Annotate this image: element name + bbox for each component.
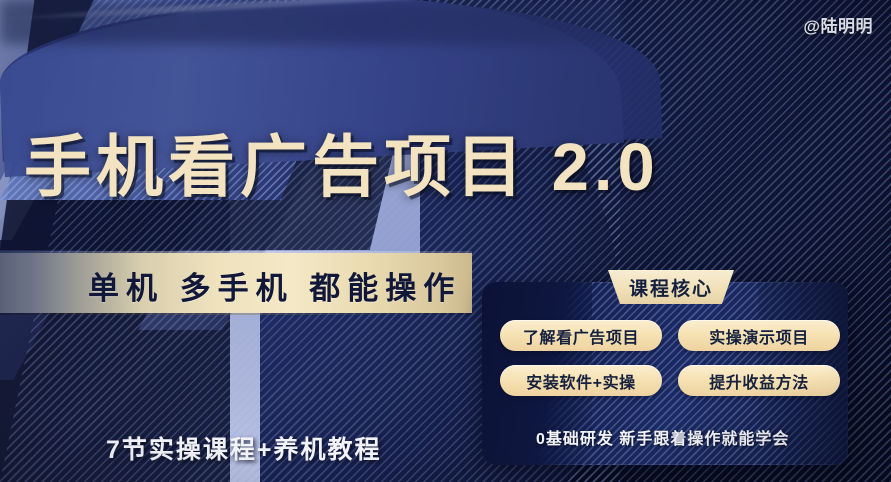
course-core-item-1[interactable]: 实操演示项目 <box>678 320 840 351</box>
page-subtitle: 单机 多手机 都能操作 <box>88 263 461 308</box>
background-foot-shadow <box>0 0 620 44</box>
subtitle-band-top-edge <box>0 251 472 253</box>
course-promo-banner: @陆明明 手机看广告项目 2.0 单机 多手机 都能操作 课程核心 了解看广告项… <box>0 0 891 482</box>
course-core-item-2[interactable]: 安装软件+实操 <box>500 365 662 396</box>
page-title: 手机看广告项目 2.0 <box>24 134 660 201</box>
course-core-item-0[interactable]: 了解看广告项目 <box>500 320 662 351</box>
course-core-badge: 课程核心 <box>604 270 738 304</box>
course-core-note: 0基础研发 新手跟着操作就能学会 <box>536 425 789 449</box>
course-core-item-label: 安装软件+实操 <box>526 369 636 393</box>
course-core-item-3[interactable]: 提升收益方法 <box>678 365 840 396</box>
course-core-item-label: 实操演示项目 <box>709 324 809 348</box>
course-core-item-label: 提升收益方法 <box>709 369 809 393</box>
course-core-item-list: 了解看广告项目 实操演示项目 安装软件+实操 提升收益方法 <box>500 320 840 396</box>
subtitle-band-bottom-edge <box>0 313 472 315</box>
author-watermark: @陆明明 <box>803 12 873 37</box>
course-core-item-label: 了解看广告项目 <box>523 324 639 348</box>
course-core-badge-label: 课程核心 <box>629 274 713 301</box>
course-count-caption: 7节实操课程+养机教程 <box>106 430 382 466</box>
